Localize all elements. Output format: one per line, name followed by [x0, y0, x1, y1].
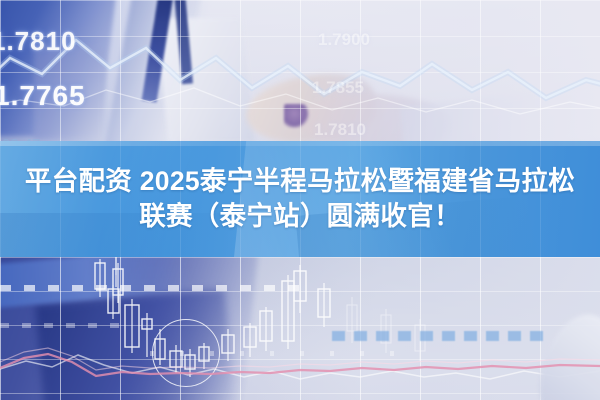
- title-line-2: 联赛（泰宁站）圆满收官！: [139, 200, 461, 233]
- pink-average-line: [0, 340, 600, 400]
- price-label-1: 1.7810: [0, 26, 77, 57]
- banner-image: 1.7810 1.7765 1.7900 1.7855 1.7810 08:47…: [0, 0, 600, 400]
- title-line-1: 平台配资 2025泰宁半程马拉松暨福建省马拉松: [25, 165, 575, 198]
- faint-price-2: 1.7855: [312, 78, 364, 98]
- faint-price-3: 1.7810: [314, 120, 366, 140]
- faint-price-1: 1.7900: [318, 30, 370, 50]
- lower-photo-region: [0, 257, 600, 400]
- banner-title: 平台配资 2025泰宁半程马拉松暨福建省马拉松 联赛（泰宁站）圆满收官！: [0, 141, 600, 257]
- title-band: 平台配资 2025泰宁半程马拉松暨福建省马拉松 联赛（泰宁站）圆满收官！: [0, 141, 600, 257]
- dashed-marker-row-1: [0, 285, 300, 291]
- upper-photo-region: 1.7810 1.7765 1.7900 1.7855 1.7810 08:47: [0, 0, 600, 141]
- price-label-2: 1.7765: [0, 80, 86, 112]
- dashed-marker-row-2: [0, 323, 120, 328]
- upper-glow-line-chart: [0, 28, 600, 118]
